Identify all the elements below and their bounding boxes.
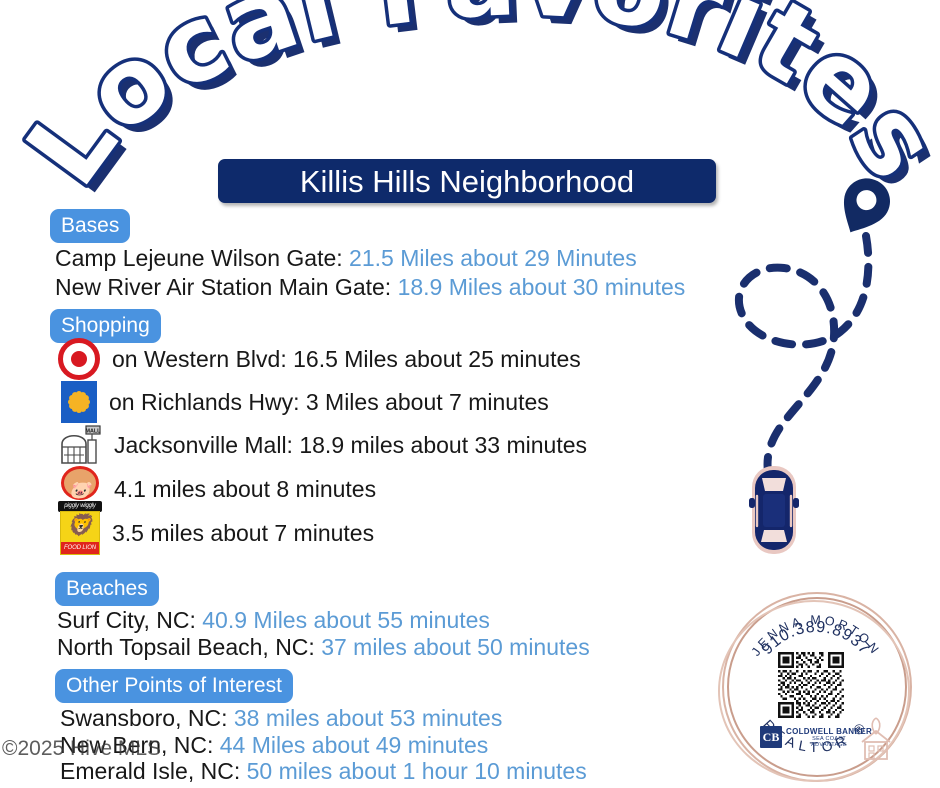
shopping-row-2-label: Jacksonville Mall: 18.9 miles about 33 m… (114, 432, 587, 459)
list-item: Surf City, NC: 40.9 Miles about 55 minut… (57, 607, 490, 634)
beaches-row-0-distance: 40.9 Miles about 55 minutes (202, 607, 490, 633)
neighborhood-name: Killis Hills Neighborhood (300, 166, 634, 197)
list-item: Emerald Isle, NC: 50 miles about 1 hour … (60, 758, 587, 785)
route-graphic (700, 160, 940, 580)
list-item: on Western Blvd: 16.5 Miles about 25 min… (58, 338, 581, 380)
realtor-seal: JENNA MORTON 910.389.8937 REALTOR ® (716, 588, 916, 784)
section-badge-beaches: Beaches (55, 572, 159, 606)
other-row-2-distance: 50 miles about 1 hour 10 minutes (247, 758, 587, 784)
list-item: on Richlands Hwy: 3 Miles about 7 minute… (61, 381, 549, 423)
car-icon (749, 466, 799, 554)
walmart-logo-icon (61, 381, 97, 423)
list-item: Swansboro, NC: 38 miles about 53 minutes (60, 705, 502, 732)
other-row-0-place: Swansboro, NC: (60, 705, 234, 731)
shopping-row-1-label: on Richlands Hwy: 3 Miles about 7 minute… (109, 389, 549, 416)
beaches-row-0-place: Surf City, NC: (57, 607, 202, 633)
shopping-row-3-label: 4.1 miles about 8 minutes (114, 476, 376, 503)
mall-sign-text: MALL (86, 428, 102, 434)
beaches-row-1-distance: 37 miles about 50 minutes (321, 634, 590, 660)
bases-row-0-place: Camp Lejeune Wilson Gate: (55, 245, 349, 271)
mall-building-icon: MALL (58, 424, 102, 466)
local-favorites-flyer: Local Favorites Local Favorites Killis H… (0, 0, 940, 788)
piggly-wiggly-logo-icon: 🐷 piggly wiggly (58, 466, 102, 512)
shopping-row-0-label: on Western Blvd: 16.5 Miles about 25 min… (112, 346, 581, 373)
food-lion-logo-icon: 🦁 FOOD LION (60, 511, 100, 555)
shopping-row-0-distance: 16.5 Miles about 25 minutes (293, 346, 581, 372)
other-row-2-place: Emerald Isle, NC: (60, 758, 247, 784)
neighborhood-banner: Killis Hills Neighborhood (218, 159, 716, 203)
bases-row-1-distance: 18.9 Miles about 30 minutes (398, 274, 686, 300)
section-badge-bases: Bases (50, 209, 130, 243)
bases-row-0-distance: 21.5 Miles about 29 Minutes (349, 245, 637, 271)
shopping-row-1-distance: 3 Miles about 7 minutes (306, 389, 549, 415)
target-logo-icon (58, 338, 100, 380)
section-badge-other-points-of-interest: Other Points of Interest (55, 669, 293, 703)
map-pin-icon (830, 170, 898, 243)
shopping-row-2-place: Jacksonville Mall: (114, 432, 299, 458)
shopping-row-3-distance: 4.1 miles about 8 minutes (114, 476, 376, 502)
list-item: North Topsail Beach, NC: 37 miles about … (57, 634, 590, 661)
shopping-row-0-place: on Western Blvd: (112, 346, 293, 372)
mls-copyright-watermark: ©2025 Hive MLS (2, 738, 161, 759)
list-item: New River Air Station Main Gate: 18.9 Mi… (55, 274, 685, 301)
shopping-row-4-label: 3.5 miles about 7 minutes (112, 520, 374, 547)
list-item: Camp Lejeune Wilson Gate: 21.5 Miles abo… (55, 245, 637, 272)
list-item: 🦁 FOOD LION 3.5 miles about 7 minutes (60, 511, 374, 555)
dashed-route-path (739, 236, 868, 472)
beaches-row-1-place: North Topsail Beach, NC: (57, 634, 321, 660)
shopping-row-1-place: on Richlands Hwy: (109, 389, 306, 415)
house-icon (856, 716, 896, 762)
shopping-row-4-distance: 3.5 miles about 7 minutes (112, 520, 374, 546)
qr-code-icon[interactable] (778, 652, 844, 718)
coldwell-banker-mark: CB (760, 726, 782, 748)
list-item: MALL Jacksonville Mall: 18.9 miles about… (58, 424, 587, 466)
list-item: 🐷 piggly wiggly 4.1 miles about 8 minute… (58, 466, 376, 512)
other-row-0-distance: 38 miles about 53 minutes (234, 705, 503, 731)
food-lion-tag-text: FOOD LION (61, 542, 99, 554)
shopping-row-2-distance: 18.9 miles about 33 minutes (299, 432, 587, 458)
other-row-1-distance: 44 Miles about 49 minutes (220, 732, 489, 758)
bases-row-1-place: New River Air Station Main Gate: (55, 274, 398, 300)
